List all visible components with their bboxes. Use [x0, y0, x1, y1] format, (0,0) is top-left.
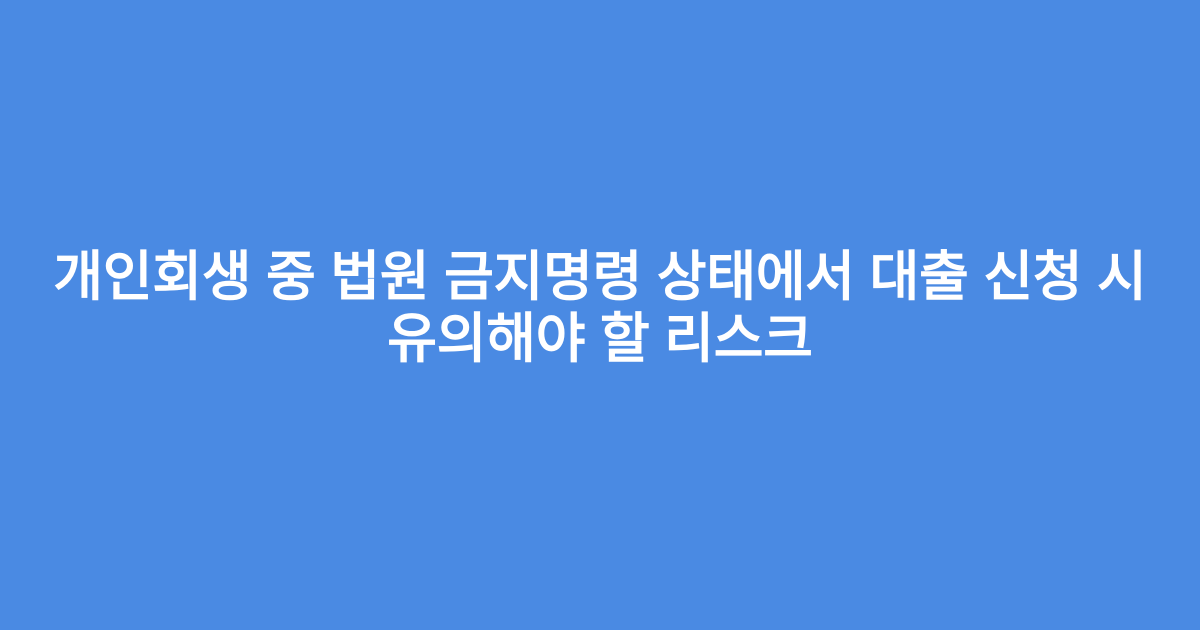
headline-container: 개인회생 중 법원 금지명령 상태에서 대출 신청 시 유의해야 할 리스크 [40, 246, 1160, 370]
og-share-card: 개인회생 중 법원 금지명령 상태에서 대출 신청 시 유의해야 할 리스크 [0, 0, 1200, 630]
page-title: 개인회생 중 법원 금지명령 상태에서 대출 신청 시 유의해야 할 리스크 [40, 246, 1160, 370]
